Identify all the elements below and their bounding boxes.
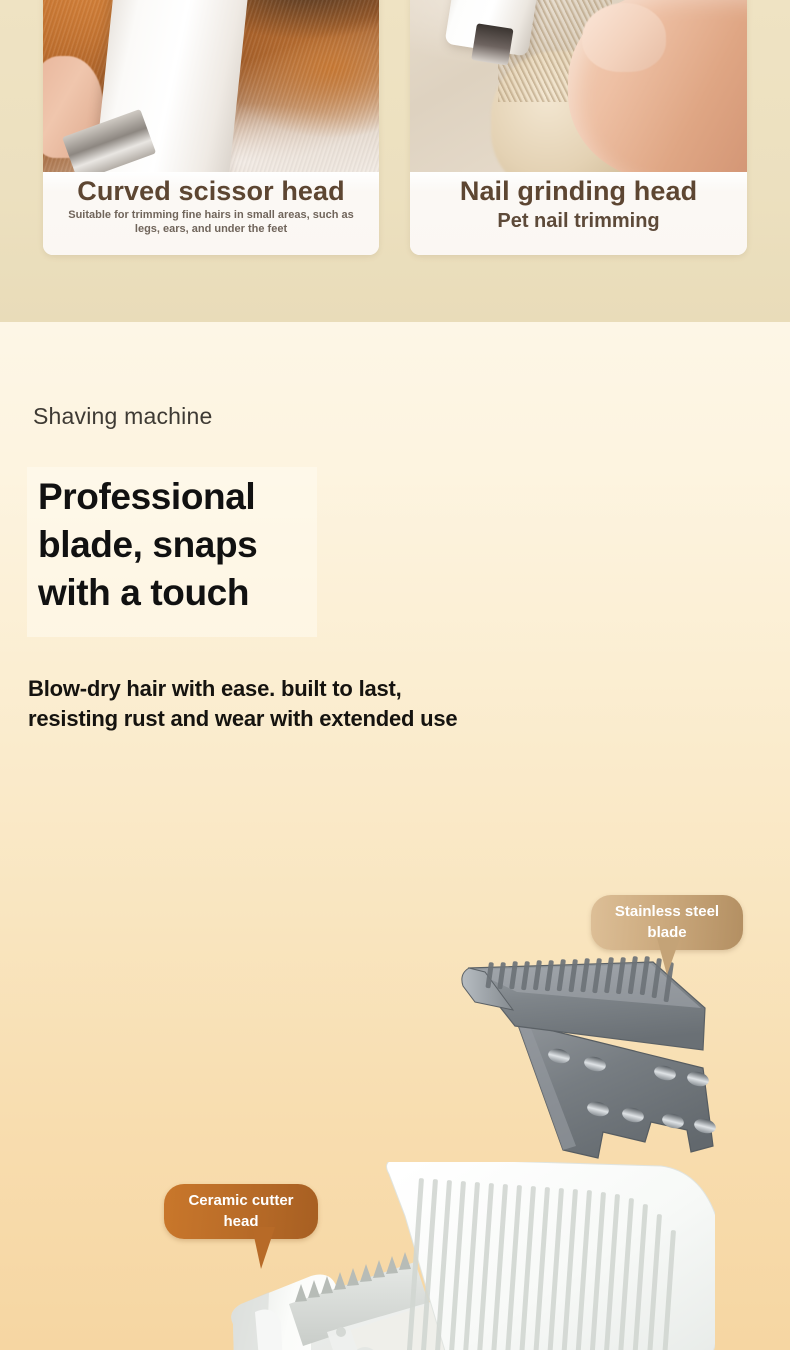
card-subtitle: Pet nail trimming	[410, 208, 747, 234]
callout-ceramic-cutter-head: Ceramic cutter head	[164, 1184, 318, 1239]
card-title: Curved scissor head	[43, 174, 379, 208]
detached-ceramic-head	[387, 1162, 715, 1350]
feature-card-curved-scissor-head[interactable]: Curved scissor head Suitable for trimmin…	[43, 0, 379, 255]
section-headline: Professional blade, snaps with a touch	[38, 473, 338, 617]
product-detail-page: Curved scissor head Suitable for trimmin…	[0, 0, 790, 1350]
fingernail	[582, 3, 666, 73]
section-subcopy: Blow-dry hair with ease. built to last, …	[28, 674, 476, 734]
card-subtitle: Suitable for trimming fine hairs in smal…	[43, 208, 379, 236]
section-eyebrow: Shaving machine	[33, 403, 212, 430]
feature-card-nail-grinding-head[interactable]: Nail grinding head Pet nail trimming	[410, 0, 747, 255]
stainless-steel-blade-illustration	[455, 940, 755, 1180]
card-caption: Curved scissor head Suitable for trimmin…	[43, 172, 379, 255]
nail-grinding-head-photo	[410, 0, 747, 172]
card-title: Nail grinding head	[410, 174, 747, 208]
callout-pointer	[252, 1227, 275, 1269]
shaving-machine-section: Shaving machine Professional blade, snap…	[0, 322, 790, 1350]
top-feature-band: Curved scissor head Suitable for trimmin…	[0, 0, 790, 322]
card-caption: Nail grinding head Pet nail trimming	[410, 172, 747, 255]
callout-label: Ceramic cutter head	[188, 1192, 293, 1230]
white-trimmer-device	[92, 0, 256, 172]
curved-scissor-head-photo	[43, 0, 379, 172]
callout-label: Stainless steel blade	[615, 903, 719, 941]
callout-pointer	[657, 938, 680, 975]
callout-stainless-steel-blade: Stainless steel blade	[591, 895, 743, 950]
